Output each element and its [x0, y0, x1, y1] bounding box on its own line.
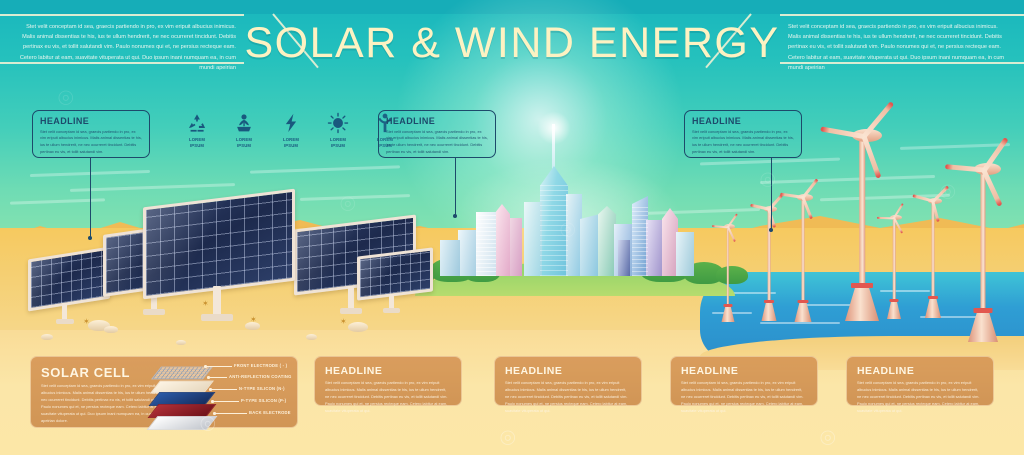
callout-stem: [90, 158, 91, 238]
icon-label: LOREM IPSUM: [276, 137, 306, 148]
page-title: SOLAR & WIND ENERGY: [244, 19, 779, 68]
rock: [104, 326, 118, 333]
icon-cell-recycle[interactable]: LOREM IPSUM: [182, 112, 212, 148]
callout-body: Stet velit conceptam id sea, graecis par…: [386, 129, 488, 156]
building: [580, 214, 600, 276]
wind-turbine: [713, 216, 743, 326]
solar-panel-leg: [213, 286, 221, 316]
cell-label-anti-reflection: ANTI-REFLECTION COATING: [229, 374, 292, 379]
rock: [176, 340, 186, 345]
bottom-panel-body: Stet velit conceptam id sea, graecis par…: [681, 380, 807, 415]
icon-cell-plant[interactable]: LOREM IPSUM: [229, 112, 259, 148]
bottom-panel-heading: HEADLINE: [857, 365, 983, 377]
callout-heading: HEADLINE: [40, 116, 142, 126]
intro-paragraph-right: Stet velit conceptam id sea, graecis par…: [788, 22, 1010, 73]
callout-stem: [455, 158, 456, 216]
tower-spire-glow: [536, 110, 572, 146]
turbine-ring: [764, 300, 774, 303]
bottom-panel-heading: HEADLINE: [325, 365, 451, 377]
cell-label-back-electrode: BACK ELECTRODE: [249, 410, 291, 415]
turbine-base: [968, 312, 998, 342]
solar-panel-main: [143, 198, 295, 290]
cell-leader-line: [211, 389, 237, 390]
solar-cell-diagram: [146, 360, 226, 428]
turbine-mast: [859, 135, 865, 295]
callout-body: Stet velit conceptam id sea, graecis par…: [692, 129, 794, 156]
cell-layer-back-electrode: [147, 416, 218, 430]
turbine-mast: [802, 196, 805, 308]
callout-body: Stet velit conceptam id sea, graecis par…: [40, 129, 142, 156]
solar-panel-foot: [201, 314, 233, 321]
callout-box-wind[interactable]: HEADLINE Stet velit conceptam id sea, gr…: [684, 110, 802, 158]
cell-leader-line: [209, 377, 227, 378]
wind-turbine: [752, 196, 786, 326]
callout-stem-dot: [453, 214, 457, 218]
grass-tuft: ✶: [340, 318, 347, 326]
cell-layer-front-electrode: [151, 367, 213, 380]
building: [458, 230, 476, 276]
rock: [41, 334, 53, 340]
bottom-panel-heading: HEADLINE: [505, 365, 631, 377]
cell-label-p-type-silicon: P-TYPE SILICON (P-): [241, 398, 286, 403]
icon-label: LOREM IPSUM: [323, 137, 353, 148]
infographic-canvas: ✶ ✶ ✶ ✶: [0, 0, 1024, 455]
solar-panel-face: [357, 247, 433, 300]
bottom-panel-body: Stet velit conceptam id sea, graecis par…: [857, 380, 983, 415]
bottom-panel-4[interactable]: HEADLINE Stet velit conceptam id sea, gr…: [846, 356, 994, 406]
turbine-mast: [981, 168, 986, 318]
turbine-mast: [727, 226, 729, 310]
building: [676, 232, 694, 276]
turbine-ring: [928, 296, 938, 299]
callout-box-solar[interactable]: HEADLINE Stet velit conceptam id sea, gr…: [32, 110, 150, 158]
bottom-panel-heading: HEADLINE: [681, 365, 807, 377]
bottom-panel-1[interactable]: HEADLINE Stet velit conceptam id sea, gr…: [314, 356, 462, 406]
turbine-base: [762, 302, 777, 321]
grass-tuft: ✶: [202, 300, 209, 308]
bottom-panel-body: Stet velit conceptam id sea, graecis par…: [325, 380, 451, 415]
turbine-blade: [912, 195, 933, 203]
turbine-ring: [798, 300, 809, 303]
icon-cell-sun[interactable]: LOREM IPSUM: [323, 112, 353, 148]
building: [494, 204, 510, 276]
bottom-panel-body: Stet velit conceptam id sea, graecis par…: [505, 380, 631, 415]
building: [646, 220, 664, 276]
callout-heading: HEADLINE: [386, 116, 488, 126]
cell-leader-line: [215, 413, 247, 414]
turbine-blade: [712, 225, 728, 229]
turbine-mast: [932, 200, 935, 304]
turbine-mast: [768, 208, 771, 308]
bottom-panel-2[interactable]: HEADLINE Stet velit conceptam id sea, gr…: [494, 356, 642, 406]
icon-label: LOREM IPSUM: [182, 137, 212, 148]
icon-label: LOREM IPSUM: [229, 137, 259, 148]
grass-tuft: ✶: [250, 316, 257, 324]
wind-turbine: [950, 140, 1016, 340]
solar-panel-foot: [383, 308, 400, 313]
turbine-ring: [851, 283, 873, 288]
turbine-ring: [974, 308, 993, 313]
turbine-blade: [820, 126, 864, 139]
icon-feature-row: LOREM IPSUM LOREM IPSUM LOREM IPSUM: [182, 112, 400, 148]
turbine-ring: [724, 304, 733, 307]
wind-turbine: [783, 182, 823, 322]
wind-turbine: [826, 103, 898, 325]
solar-panel: [28, 253, 110, 305]
building: [508, 218, 522, 276]
wind-turbine: [915, 186, 951, 322]
turbine-base: [795, 302, 812, 322]
building: [566, 194, 582, 276]
callout-box-city[interactable]: HEADLINE Stet velit conceptam id sea, gr…: [378, 110, 496, 158]
callout-heading: HEADLINE: [692, 116, 794, 126]
callout-stem: [771, 158, 772, 230]
turbine-base: [845, 287, 879, 321]
rock: [348, 322, 368, 332]
grass-tuft: ✶: [83, 318, 90, 326]
icon-cell-bolt[interactable]: LOREM IPSUM: [276, 112, 306, 148]
sun-icon: [327, 112, 349, 134]
solar-panel: [357, 252, 433, 296]
rock: [306, 334, 317, 340]
building: [440, 240, 460, 276]
solar-panel-face: [143, 189, 295, 300]
intro-paragraph-left: Stet velit conceptam id sea, graecis par…: [14, 22, 236, 73]
cell-label-front-electrode: FRONT ELECTRODE ( - ): [234, 363, 287, 368]
recycle-icon: [186, 112, 208, 134]
solar-panel-foot: [56, 319, 74, 324]
plant-leaf-icon: [233, 112, 255, 134]
solar-panel-foot: [340, 308, 362, 314]
cell-leader-line: [213, 401, 239, 402]
solar-panel-face: [28, 247, 110, 312]
solar-panel-leg: [348, 286, 354, 310]
callout-stem-dot: [88, 236, 92, 240]
cell-leader-line: [206, 366, 232, 367]
turbine-base: [722, 306, 735, 322]
turbine-base: [925, 298, 941, 318]
solar-panel-foot: [143, 309, 165, 315]
cell-label-n-type-silicon: N-TYPE SILICON (N-): [239, 386, 285, 391]
turbine-blade: [750, 204, 769, 210]
building: [618, 240, 630, 276]
bottom-panel-3[interactable]: HEADLINE Stet velit conceptam id sea, gr…: [670, 356, 818, 406]
lightning-bolt-icon: [280, 112, 302, 134]
callout-stem-dot: [769, 228, 773, 232]
